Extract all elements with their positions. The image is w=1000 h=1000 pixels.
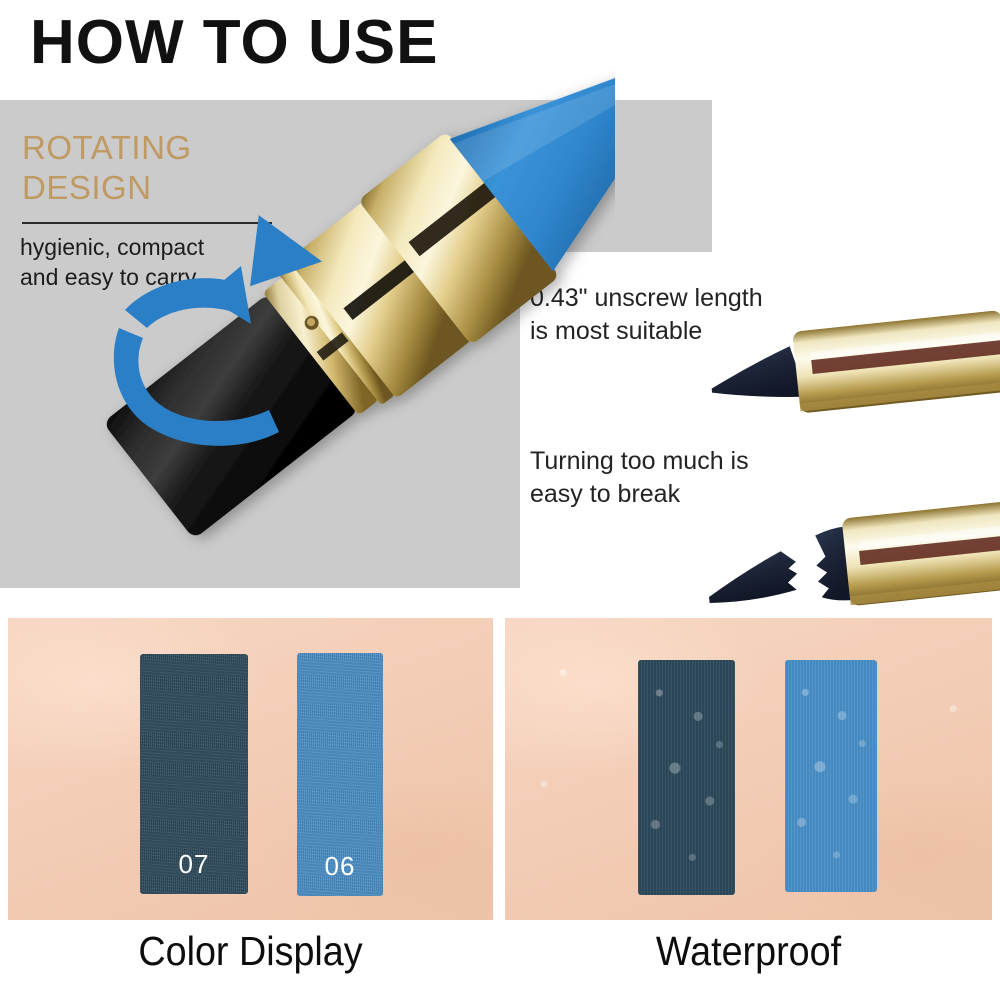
rotating-design-subtitle-line-1: hygienic, compact	[20, 232, 310, 262]
swatch-06: 06	[297, 653, 383, 896]
rotating-design-subtitle-line-2: and easy to carry	[20, 262, 310, 292]
skin-background-wet	[505, 618, 992, 920]
swatch-07: 07	[140, 654, 248, 894]
swatch-06-wet	[785, 660, 877, 892]
swatch-07-code: 07	[140, 849, 248, 880]
skin-background-dry	[8, 618, 493, 920]
color-display-caption: Color Display	[27, 928, 473, 975]
page-title: HOW TO USE	[30, 12, 438, 74]
rotating-design-heading-line-2: DESIGN	[22, 168, 322, 208]
broken-pencil-illustration	[700, 495, 1000, 625]
rotating-design-subtitle: hygienic, compact and easy to carry	[20, 232, 310, 293]
over-turning-note-line-1: Turning too much is	[530, 445, 860, 478]
rotating-design-divider	[22, 222, 272, 224]
waterproof-panel	[505, 618, 992, 920]
rotating-design-panel-lower	[0, 252, 520, 588]
swatch-06-code: 06	[297, 851, 383, 882]
intact-pencil-illustration	[700, 295, 1000, 435]
color-display-panel: 07 06	[8, 618, 493, 920]
waterproof-caption: Waterproof	[524, 928, 972, 975]
rotating-design-heading: ROTATING DESIGN	[22, 128, 322, 209]
swatch-07-wet	[638, 660, 735, 895]
rotating-design-heading-line-1: ROTATING	[22, 128, 322, 168]
intact-pencil-tip	[708, 345, 807, 407]
infographic-page: HOW TO USE ROTATING DESIGN hygienic, com…	[0, 0, 1000, 1000]
broken-pencil-fragment	[705, 550, 799, 604]
